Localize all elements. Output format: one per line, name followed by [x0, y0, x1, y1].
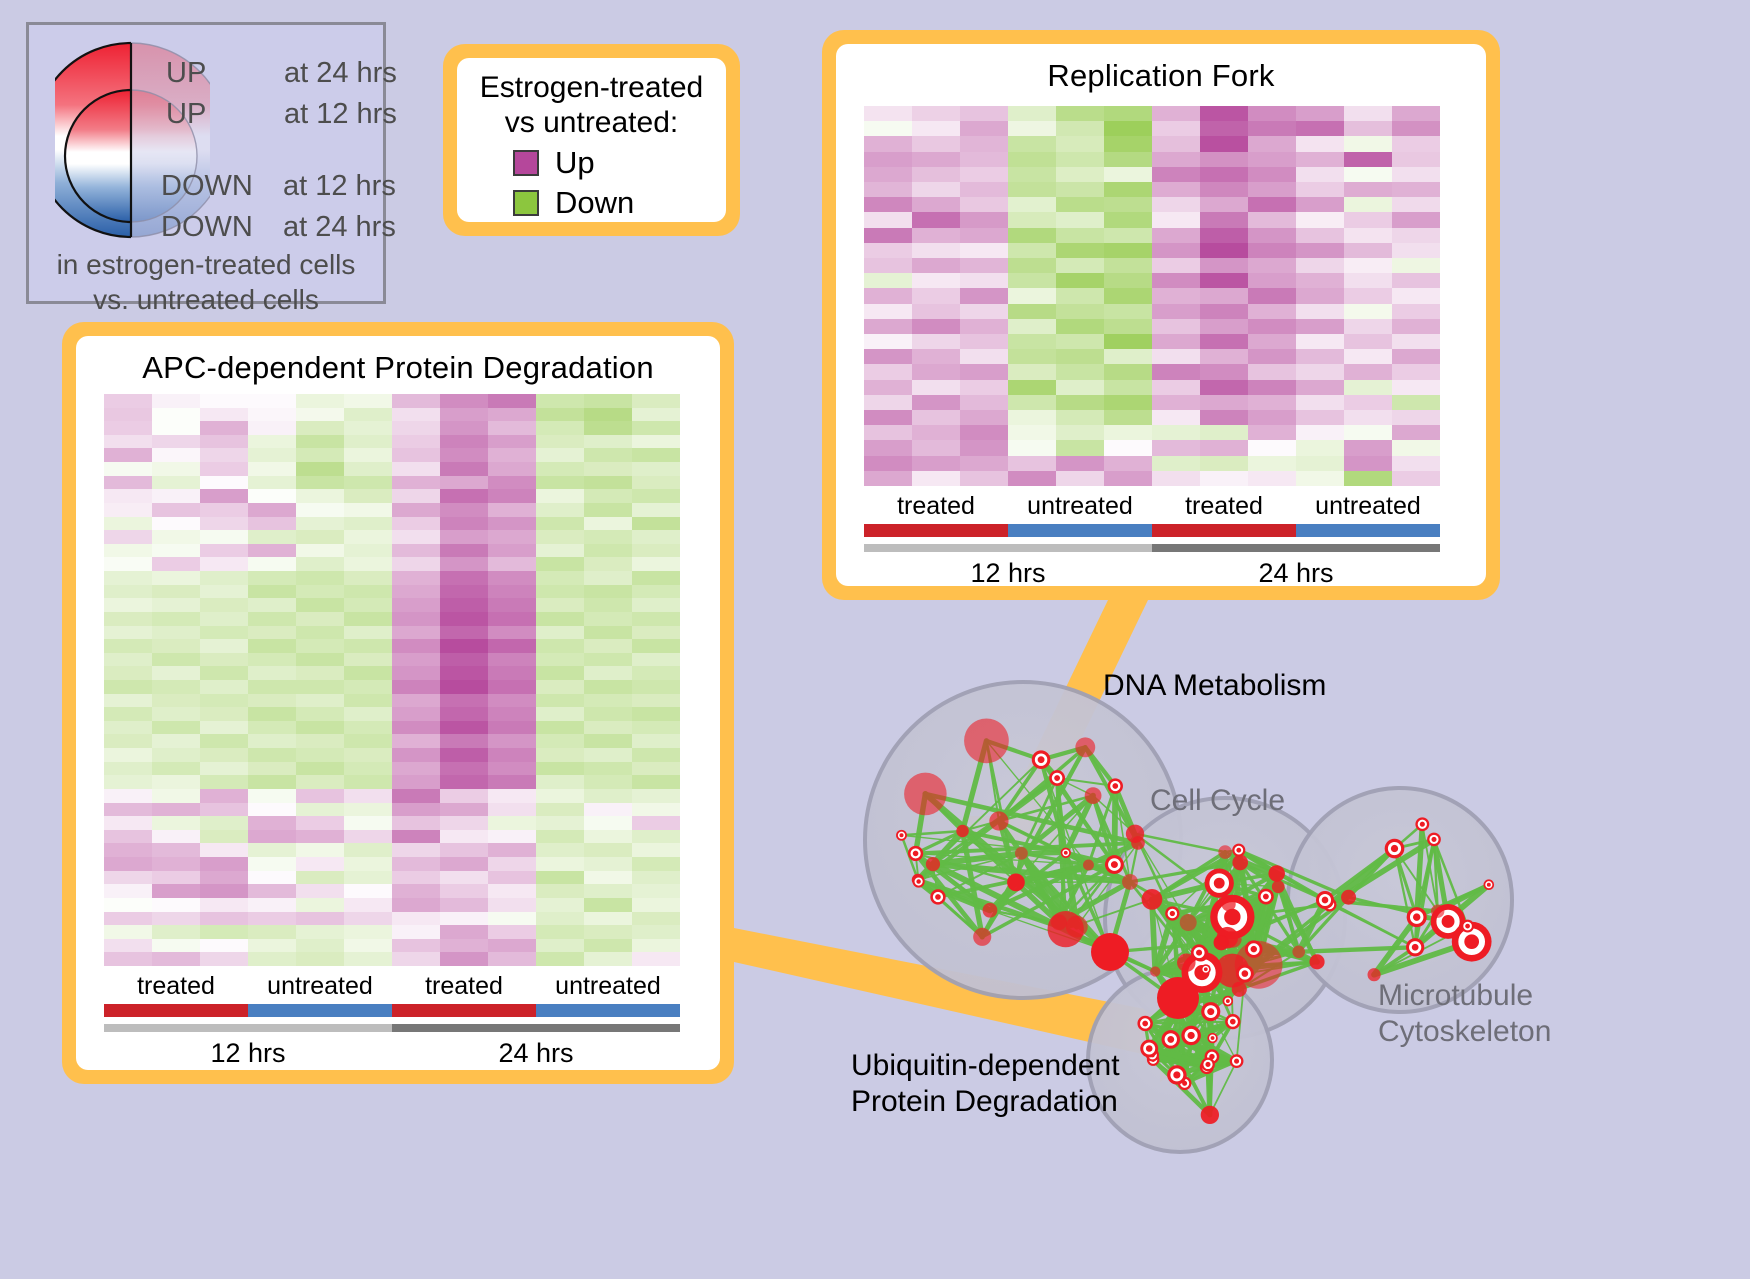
heatmap-cell [584, 775, 632, 789]
heatmap-cell [104, 544, 152, 558]
treatment-bar-untreated-12 [1008, 524, 1152, 537]
heatmap-cell [536, 557, 584, 571]
group-label-treated-24: treated [392, 972, 536, 1001]
heatmap-cell [392, 912, 440, 926]
network-node [1218, 845, 1232, 859]
heatmap-cell [1104, 319, 1152, 334]
heatmap-cell [440, 843, 488, 857]
heatmap-cell [864, 258, 912, 273]
heatmap-cell [536, 585, 584, 599]
heatmap-cell [200, 748, 248, 762]
heatmap-cell [1056, 167, 1104, 182]
group-label-untreated-12: untreated [248, 972, 392, 1001]
heatmap-cell [248, 803, 296, 817]
heatmap-cell [584, 762, 632, 776]
heatmap-cell [200, 871, 248, 885]
heatmap-cell [344, 857, 392, 871]
heatmap-cell [104, 707, 152, 721]
heatmap-cell [440, 912, 488, 926]
heatmap-cell [584, 530, 632, 544]
network-node [1165, 906, 1179, 920]
heatmap-cell [1104, 364, 1152, 379]
heatmap-cell [152, 748, 200, 762]
heatmap-cell [960, 471, 1008, 486]
heatmap-cell [488, 612, 536, 626]
heatmap-cell [584, 721, 632, 735]
heatmap-cell [392, 626, 440, 640]
heatmap-cell [1392, 121, 1440, 136]
heatmap-cell [1344, 152, 1392, 167]
heatmap-cell [584, 571, 632, 585]
heatmap-cell [1104, 182, 1152, 197]
heatmap-cell [248, 734, 296, 748]
apc-group-labels: treated untreated treated untreated [104, 972, 680, 1001]
heatmap-cell [584, 585, 632, 599]
heatmap-cell [1008, 440, 1056, 455]
heatmap-cell [536, 952, 584, 966]
heatmap-cell [1392, 167, 1440, 182]
heatmap-cell [1152, 152, 1200, 167]
updown-legend-title: Estrogen-treated vs untreated: [457, 58, 726, 141]
heatmap-cell [1008, 425, 1056, 440]
heatmap-cell [1056, 440, 1104, 455]
apc-degradation-title: APC-dependent Protein Degradation [76, 336, 720, 386]
network-node [1245, 940, 1263, 958]
heatmap-cell [960, 288, 1008, 303]
heatmap-cell [912, 167, 960, 182]
network-node [1205, 868, 1234, 897]
heatmap-cell [296, 816, 344, 830]
heatmap-cell [296, 598, 344, 612]
heatmap-cell [440, 612, 488, 626]
heatmap-cell [1200, 212, 1248, 227]
heatmap-cell [488, 585, 536, 599]
heatmap-cell [1152, 395, 1200, 410]
heatmap-cell [1248, 243, 1296, 258]
network-node [989, 811, 1008, 830]
heatmap-cell [200, 721, 248, 735]
heatmap-cell [1344, 349, 1392, 364]
heatmap-cell [104, 789, 152, 803]
heatmap-cell [584, 939, 632, 953]
heatmap-cell [392, 503, 440, 517]
heatmap-cell [1056, 425, 1104, 440]
heatmap-cell [1392, 334, 1440, 349]
heatmap-cell [152, 775, 200, 789]
heatmap-cell [536, 448, 584, 462]
heatmap-cell [1056, 228, 1104, 243]
network-node [1150, 966, 1160, 976]
heatmap-cell [200, 680, 248, 694]
heatmap-cell [1296, 121, 1344, 136]
heatmap-cell [200, 557, 248, 571]
heatmap-cell [864, 273, 912, 288]
heatmap-cell [912, 228, 960, 243]
heatmap-cell [392, 694, 440, 708]
heatmap-cell [1200, 364, 1248, 379]
heatmap-cell [440, 734, 488, 748]
heatmap-cell [584, 830, 632, 844]
heatmap-cell [344, 626, 392, 640]
heatmap-cell [912, 152, 960, 167]
heatmap-cell [200, 952, 248, 966]
cluster-label-ubiquitin: Ubiquitin-dependent Protein Degradation [851, 1048, 1120, 1120]
heatmap-cell [912, 304, 960, 319]
heatmap-cell [584, 871, 632, 885]
heatmap-cell [536, 871, 584, 885]
heatmap-cell [488, 884, 536, 898]
heatmap-cell [1296, 182, 1344, 197]
heatmap-cell [248, 598, 296, 612]
heatmap-cell [488, 762, 536, 776]
heatmap-cell [488, 830, 536, 844]
treatment-bar-treated-12 [864, 524, 1008, 537]
heatmap-cell [1008, 121, 1056, 136]
network-node [1075, 737, 1095, 757]
heatmap-cell [960, 197, 1008, 212]
heatmap-cell [440, 898, 488, 912]
heatmap-cell [912, 243, 960, 258]
heatmap-cell [296, 462, 344, 476]
heatmap-cell [248, 394, 296, 408]
heatmap-cell [440, 884, 488, 898]
heatmap-cell [104, 653, 152, 667]
time-label-12hrs: 12 hrs [104, 1038, 392, 1069]
network-node [1427, 833, 1441, 847]
heatmap-cell [1248, 471, 1296, 486]
heatmap-cell [536, 707, 584, 721]
heatmap-cell [440, 680, 488, 694]
heatmap-cell [248, 448, 296, 462]
heatmap-cell [1008, 410, 1056, 425]
heatmap-cell [584, 598, 632, 612]
heatmap-cell [864, 425, 912, 440]
heatmap-cell [864, 182, 912, 197]
heatmap-cell [1200, 106, 1248, 121]
heatmap-cell [1104, 380, 1152, 395]
heatmap-cell [1008, 228, 1056, 243]
heatmap-cell [392, 571, 440, 585]
heatmap-cell [912, 364, 960, 379]
heatmap-cell [584, 898, 632, 912]
heatmap-cell [440, 408, 488, 422]
heatmap-cell [104, 421, 152, 435]
heatmap-cell [536, 680, 584, 694]
heatmap-cell [1392, 152, 1440, 167]
heatmap-cell [1344, 228, 1392, 243]
heatmap-cell [1152, 349, 1200, 364]
heatmap-cell [632, 707, 680, 721]
heatmap-cell [1392, 471, 1440, 486]
heatmap-cell [632, 435, 680, 449]
cluster-label-ubiquitin-line2: Protein Degradation [851, 1084, 1120, 1120]
color-scale-legend-box: UP at 24 hrs UP at 12 hrs DOWN at 12 hrs… [26, 22, 386, 304]
heatmap-cell [488, 898, 536, 912]
heatmap-cell [152, 557, 200, 571]
heatmap-cell [296, 871, 344, 885]
heatmap-cell [536, 734, 584, 748]
heatmap-cell [1200, 273, 1248, 288]
heatmap-cell [632, 666, 680, 680]
heatmap-cell [344, 871, 392, 885]
heatmap-cell [864, 304, 912, 319]
heatmap-cell [912, 456, 960, 471]
heatmap-cell [1296, 273, 1344, 288]
network-node [1142, 889, 1163, 910]
heatmap-cell [1296, 395, 1344, 410]
heatmap-cell [1152, 106, 1200, 121]
heatmap-cell [392, 476, 440, 490]
network-node [1214, 935, 1229, 950]
heatmap-cell [632, 421, 680, 435]
heatmap-cell [248, 585, 296, 599]
heatmap-cell [248, 762, 296, 776]
heatmap-cell [488, 653, 536, 667]
heatmap-cell [1008, 349, 1056, 364]
heatmap-cell [536, 721, 584, 735]
heatmap-cell [104, 394, 152, 408]
heatmap-cell [1296, 106, 1344, 121]
heatmap-cell [1392, 410, 1440, 425]
heatmap-cell [200, 612, 248, 626]
heatmap-cell [632, 898, 680, 912]
heatmap-cell [584, 544, 632, 558]
heatmap-cell [296, 585, 344, 599]
heatmap-cell [536, 884, 584, 898]
heatmap-cell [440, 762, 488, 776]
heatmap-cell [152, 803, 200, 817]
heatmap-cell [1056, 395, 1104, 410]
heatmap-cell [488, 530, 536, 544]
heatmap-cell [200, 816, 248, 830]
replication-fork-time-labels: 12 hrs 24 hrs [864, 558, 1440, 586]
heatmap-cell [392, 939, 440, 953]
heatmap-cell [584, 734, 632, 748]
heatmap-cell [632, 544, 680, 558]
heatmap-cell [584, 517, 632, 531]
heatmap-cell [200, 585, 248, 599]
heatmap-cell [344, 925, 392, 939]
heatmap-cell [104, 503, 152, 517]
network-node [908, 846, 923, 861]
heatmap-cell [536, 925, 584, 939]
heatmap-cell [296, 571, 344, 585]
group-label-treated-12: treated [864, 492, 1008, 521]
heatmap-cell [296, 394, 344, 408]
heatmap-cell [440, 748, 488, 762]
heatmap-cell [248, 503, 296, 517]
heatmap-cell [440, 530, 488, 544]
network-node [956, 825, 969, 838]
heatmap-cell [864, 121, 912, 136]
apc-time-bars [104, 1024, 680, 1032]
heatmap-cell [296, 857, 344, 871]
heatmap-cell [200, 571, 248, 585]
heatmap-cell [488, 925, 536, 939]
heatmap-cell [584, 748, 632, 762]
heatmap-cell [1344, 167, 1392, 182]
heatmap-cell [248, 653, 296, 667]
heatmap-cell [440, 394, 488, 408]
network-node [1181, 1026, 1201, 1046]
heatmap-cell [296, 898, 344, 912]
heatmap-cell [440, 925, 488, 939]
heatmap-cell [248, 435, 296, 449]
heatmap-cell [296, 666, 344, 680]
heatmap-cell [536, 666, 584, 680]
heatmap-cell [960, 273, 1008, 288]
heatmap-cell [104, 898, 152, 912]
heatmap-cell [584, 639, 632, 653]
heatmap-cell [296, 721, 344, 735]
heatmap-cell [104, 408, 152, 422]
heatmap-cell [960, 243, 1008, 258]
heatmap-cell [200, 803, 248, 817]
heatmap-cell [912, 106, 960, 121]
heatmap-cell [152, 462, 200, 476]
heatmap-cell [1296, 136, 1344, 151]
heatmap-cell [960, 258, 1008, 273]
heatmap-cell [536, 748, 584, 762]
heatmap-cell [296, 775, 344, 789]
heatmap-cell [200, 925, 248, 939]
heatmap-cell [104, 775, 152, 789]
up-color-swatch [513, 150, 539, 176]
heatmap-cell [392, 898, 440, 912]
heatmap-cell [536, 775, 584, 789]
heatmap-cell [632, 925, 680, 939]
heatmap-cell [392, 448, 440, 462]
heatmap-cell [344, 517, 392, 531]
heatmap-cell [344, 530, 392, 544]
heatmap-cell [488, 408, 536, 422]
heatmap-cell [584, 707, 632, 721]
heatmap-cell [200, 517, 248, 531]
cluster-label-dna-metabolism: DNA Metabolism [1103, 668, 1326, 704]
heatmap-cell [344, 503, 392, 517]
heatmap-cell [104, 448, 152, 462]
heatmap-cell [296, 789, 344, 803]
network-node [1415, 817, 1429, 831]
heatmap-cell [344, 476, 392, 490]
network-node [1223, 996, 1234, 1007]
heatmap-cell [1392, 243, 1440, 258]
heatmap-cell [344, 898, 392, 912]
heatmap-cell [104, 489, 152, 503]
heatmap-cell [1008, 380, 1056, 395]
heatmap-cell [392, 544, 440, 558]
heatmap-cell [440, 571, 488, 585]
heatmap-cell [912, 349, 960, 364]
heatmap-cell [152, 666, 200, 680]
heatmap-cell [1104, 440, 1152, 455]
heatmap-cell [200, 762, 248, 776]
heatmap-cell [536, 544, 584, 558]
legend-time-up-12: at 12 hrs [284, 98, 397, 131]
heatmap-cell [1200, 349, 1248, 364]
network-node [1232, 844, 1245, 857]
heatmap-cell [104, 557, 152, 571]
heatmap-cell [104, 939, 152, 953]
heatmap-cell [152, 694, 200, 708]
heatmap-cell [632, 462, 680, 476]
heatmap-cell [200, 734, 248, 748]
heatmap-cell [104, 530, 152, 544]
heatmap-cell [392, 408, 440, 422]
heatmap-cell [296, 748, 344, 762]
heatmap-cell [632, 489, 680, 503]
heatmap-cell [296, 408, 344, 422]
heatmap-cell [248, 843, 296, 857]
heatmap-cell [1200, 334, 1248, 349]
heatmap-cell [296, 517, 344, 531]
treatment-bar-treated-24 [392, 1004, 536, 1017]
heatmap-cell [912, 334, 960, 349]
heatmap-cell [344, 571, 392, 585]
heatmap-cell [440, 489, 488, 503]
heatmap-cell [1392, 319, 1440, 334]
heatmap-cell [584, 789, 632, 803]
network-edge [1114, 786, 1115, 865]
heatmap-cell [912, 471, 960, 486]
heatmap-cell [344, 489, 392, 503]
network-node [1207, 1033, 1217, 1043]
heatmap-cell [152, 489, 200, 503]
heatmap-cell [1056, 334, 1104, 349]
heatmap-cell [912, 212, 960, 227]
heatmap-cell [488, 476, 536, 490]
heatmap-cell [488, 816, 536, 830]
heatmap-cell [584, 448, 632, 462]
heatmap-cell [912, 440, 960, 455]
heatmap-cell [1104, 334, 1152, 349]
heatmap-cell [864, 152, 912, 167]
heatmap-cell [104, 952, 152, 966]
heatmap-cell [440, 557, 488, 571]
heatmap-cell [1392, 440, 1440, 455]
heatmap-cell [488, 489, 536, 503]
heatmap-cell [200, 653, 248, 667]
network-node [1108, 778, 1123, 793]
heatmap-cell [152, 925, 200, 939]
heatmap-cell [392, 435, 440, 449]
network-node [1137, 1016, 1152, 1031]
heatmap-cell [1200, 243, 1248, 258]
heatmap-cell [296, 448, 344, 462]
heatmap-cell [632, 789, 680, 803]
treatment-bar-untreated-12 [248, 1004, 392, 1017]
heatmap-cell [152, 721, 200, 735]
heatmap-cell [488, 598, 536, 612]
heatmap-cell [248, 775, 296, 789]
heatmap-cell [536, 421, 584, 435]
group-label-treated-24: treated [1152, 492, 1296, 521]
heatmap-cell [200, 394, 248, 408]
heatmap-cell [1104, 136, 1152, 151]
legend-item-up: Up [513, 145, 726, 181]
heatmap-cell [296, 694, 344, 708]
heatmap-cell [392, 734, 440, 748]
heatmap-cell [632, 626, 680, 640]
heatmap-cell [1056, 364, 1104, 379]
heatmap-cell [1296, 228, 1344, 243]
heatmap-cell [200, 435, 248, 449]
legend-direction-down-12: DOWN [161, 170, 283, 203]
heatmap-cell [248, 571, 296, 585]
time-bar-12hrs [104, 1024, 392, 1032]
heatmap-cell [152, 734, 200, 748]
heatmap-cell [152, 898, 200, 912]
